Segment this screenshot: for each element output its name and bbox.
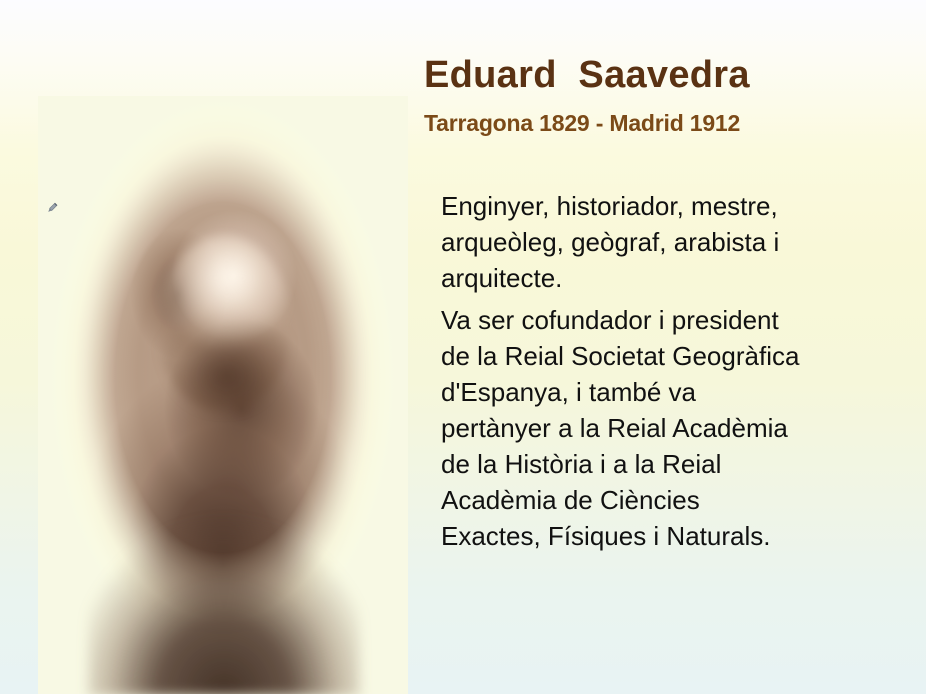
slide-canvas: Eduard Saavedra Tarragona 1829 - Madrid …	[0, 0, 926, 694]
pencil-cursor-icon	[45, 201, 59, 215]
portrait-head-highlight	[158, 236, 290, 411]
portrait-figure	[38, 96, 408, 694]
body-paragraph-2: Va ser cofundador i president de la Reia…	[441, 302, 893, 554]
portrait-body-silhouette	[88, 396, 360, 694]
page-subtitle: Tarragona 1829 - Madrid 1912	[424, 110, 740, 137]
body-paragraph-1: Enginyer, historiador, mestre, arqueòleg…	[441, 188, 893, 296]
page-title: Eduard Saavedra	[424, 54, 750, 97]
